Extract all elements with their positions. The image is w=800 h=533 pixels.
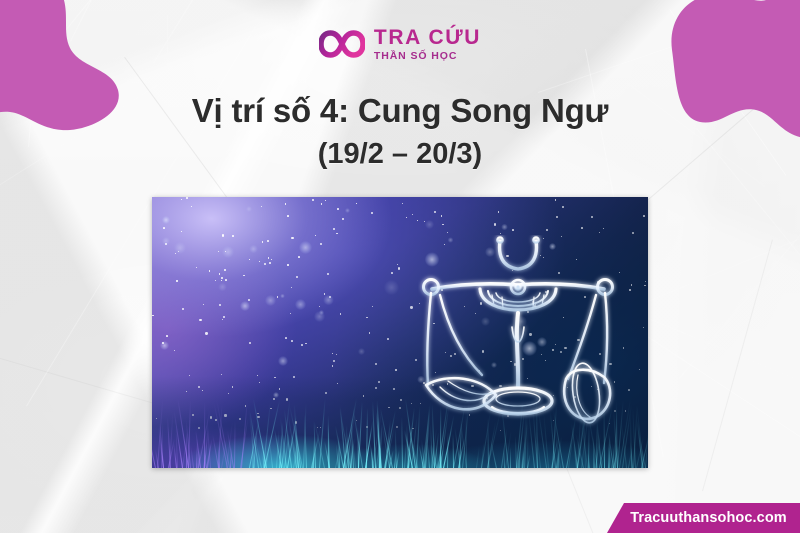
brand-logo[interactable]: TRA CỨU THẦN SỐ HỌC [0,27,800,62]
slide-canvas: TRA CỨU THẦN SỐ HỌC Vị trí số 4: Cung So… [0,0,800,533]
brand-wordmark: TRA CỨU THẦN SỐ HỌC [374,27,481,62]
brand-name-main: TRA CỨU [374,27,481,48]
brand-name-sub: THẦN SỐ HỌC [374,51,481,62]
infinity-icon [319,29,365,59]
page-title: Vị trí số 4: Cung Song Ngư [0,92,800,131]
heading-block: Vị trí số 4: Cung Song Ngư (19/2 – 20/3) [0,92,800,172]
libra-scales-icon [418,235,618,447]
website-url: Tracuuthansohoc.com [620,510,787,526]
hero-image [152,197,648,468]
website-badge[interactable]: Tracuuthansohoc.com [607,503,800,533]
page-subtitle: (19/2 – 20/3) [0,137,800,172]
